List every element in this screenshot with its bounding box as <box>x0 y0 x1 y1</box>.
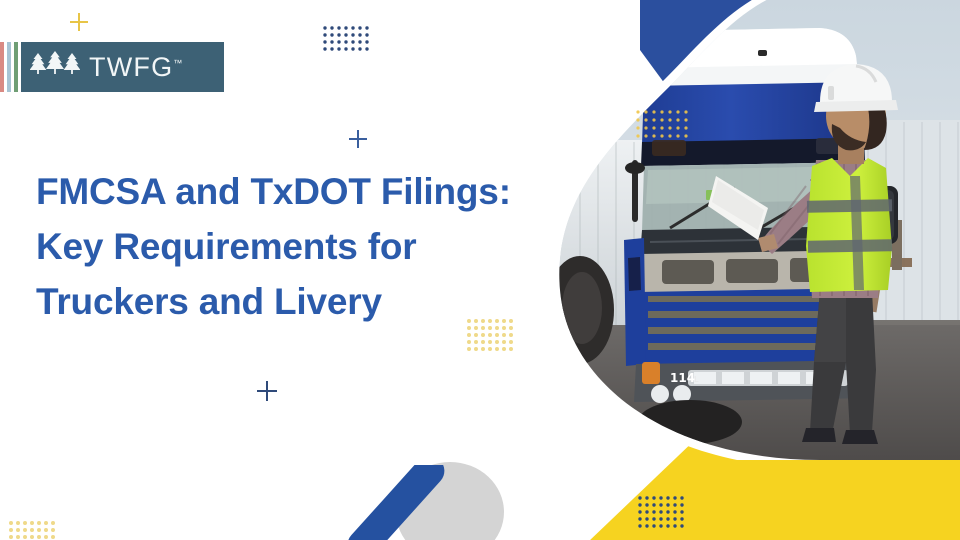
headline-line-2: Key Requirements for <box>36 220 556 275</box>
blog-header-banner: 114 L <box>0 0 960 540</box>
worker-figure <box>708 64 898 444</box>
logo-box: TWFG™ <box>21 42 224 92</box>
three-pine-trees-icon <box>30 50 80 84</box>
svg-text:L: L <box>694 375 699 384</box>
dot-grid-blue-bottom-right <box>637 495 689 529</box>
logo-trademark-symbol: ™ <box>173 58 182 68</box>
blue-rounded-bar-right <box>855 255 960 435</box>
plus-mark-blue-mid-left <box>349 130 367 148</box>
page-title: FMCSA and TxDOT Filings: Key Requirement… <box>36 165 556 329</box>
logo-wordmark: TWFG™ <box>89 54 182 81</box>
blue-triangle-top-right <box>640 0 960 148</box>
svg-text:114: 114 <box>670 371 695 385</box>
dot-grid-yellow-photo <box>636 110 687 137</box>
plus-mark-blue-lower-left <box>257 381 277 401</box>
logo-wordmark-text: TWFG <box>89 52 173 82</box>
headline-line-3: Truckers and Livery <box>36 275 556 330</box>
gray-rounded-blob-bottom <box>390 460 510 540</box>
dot-grid-blue-top <box>322 25 374 53</box>
headline-line-1: FMCSA and TxDOT Filings: <box>36 165 556 220</box>
dot-grid-yellow-bottom-left <box>8 520 60 540</box>
yellow-diagonal-bottom-right <box>560 330 960 540</box>
twfg-logo[interactable]: TWFG™ <box>0 42 224 92</box>
truck-driver-inspection-photo: 114 L <box>520 0 960 460</box>
blue-rounded-stick-bottom <box>330 465 470 540</box>
plus-mark-yellow-top-left <box>70 13 88 31</box>
